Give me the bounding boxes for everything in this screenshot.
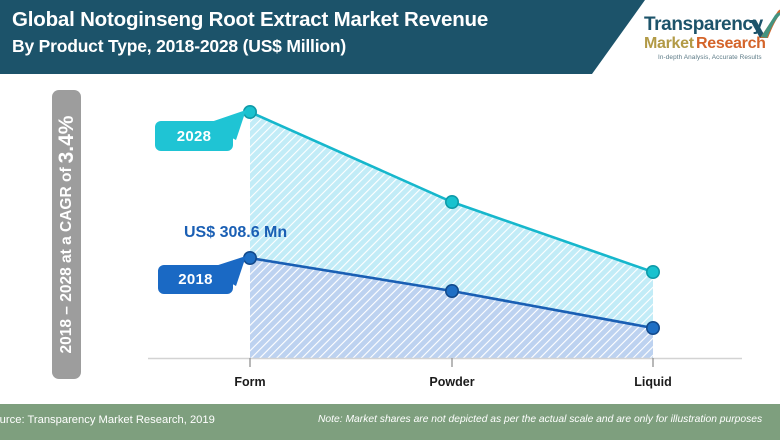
data-point-2028-form[interactable] [244,106,256,118]
footer-source-text: Source: Transparency Market Research, 20… [0,414,215,426]
footer-note-text: Note: Market shares are not depicted as … [318,414,762,425]
page-title: Global Notoginseng Root Extract Market R… [12,8,612,32]
logo-tagline: In-depth Analysis, Accurate Results [658,54,762,61]
x-axis-label-liquid: Liquid [613,375,693,389]
checkmark-swoosh-icon [748,8,780,42]
x-axis-label-form: Form [210,375,290,389]
infographic-page: Global Notoginseng Root Extract Market R… [0,0,780,440]
header: Global Notoginseng Root Extract Market R… [0,0,780,74]
footer-bar: Source: Transparency Market Research, 20… [0,404,780,440]
callout-2018[interactable]: 2018 [158,265,233,294]
x-axis-label-powder: Powder [412,375,492,389]
data-point-2028-powder[interactable] [446,196,458,208]
logo-line-market: Market [644,35,694,53]
data-point-2028-liquid[interactable] [647,266,659,278]
data-point-2018-liquid[interactable] [647,322,659,334]
callout-2028[interactable]: 2028 [155,121,233,151]
chart-svg [0,74,780,396]
data-value-label-2018-form: US$ 308.6 Mn [184,224,287,242]
data-point-2018-form[interactable] [244,252,256,264]
page-subtitle: By Product Type, 2018-2028 (US$ Million) [12,36,612,57]
data-point-2018-powder[interactable] [446,285,458,297]
chart-area: Form Powder Liquid [0,74,780,396]
logo: Transparency Market Research In-depth An… [644,10,780,68]
logo-line-transparency: Transparency [644,14,763,36]
